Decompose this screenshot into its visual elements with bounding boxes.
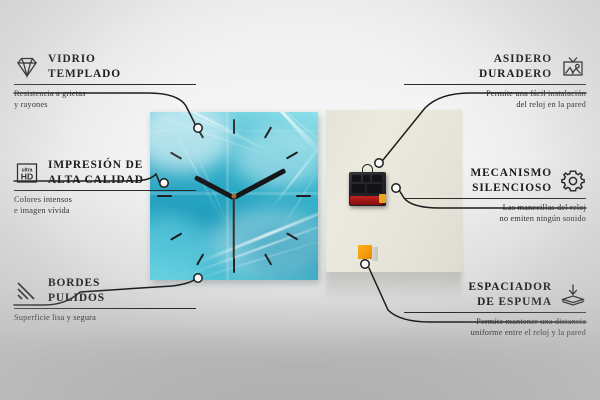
hour-mark — [233, 258, 235, 273]
feature-silent-mechanism: MECANISMOSILENCIOSO Las manecillas del r… — [404, 166, 586, 224]
movement-detail — [352, 175, 361, 182]
hour-mark — [296, 195, 311, 197]
feature-description: Colores intensose imagen vívida — [14, 195, 196, 216]
diamond-icon — [14, 54, 40, 80]
hand-center-pin — [232, 194, 237, 199]
second-hand — [233, 196, 235, 258]
divider — [14, 308, 196, 309]
foam-spacer-icon — [560, 282, 586, 308]
feature-durable-hanger: ASIDERODURADERO Permite una fácil instal… — [404, 52, 586, 110]
feature-title: IMPRESIÓN DEALTA CALIDAD — [48, 158, 144, 187]
movement-detail — [367, 184, 382, 193]
feature-header: ESPACIADORDE ESPUMA — [404, 280, 586, 309]
feature-title: ESPACIADORDE ESPUMA — [469, 280, 552, 309]
svg-text:HD: HD — [21, 171, 33, 181]
picture-hanger-icon — [560, 54, 586, 80]
feature-title: ASIDERODURADERO — [479, 52, 552, 81]
feature-foam-spacer: ESPACIADORDE ESPUMA Permite mantener una… — [404, 280, 586, 338]
feature-polished-edges: BORDESPULIDOS Superficie lisa y segura — [14, 276, 196, 324]
feature-tempered-glass: VIDRIOTEMPLADO Resistencia a grietasy ra… — [14, 52, 196, 110]
feature-description: Las manecillas del relojno emiten ningún… — [404, 203, 586, 224]
gear-icon — [560, 168, 586, 194]
feature-description: Permite una fácil instalacióndel reloj e… — [404, 89, 586, 110]
infographic-canvas: VIDRIOTEMPLADO Resistencia a grietasy ra… — [0, 0, 600, 400]
feature-description: Permite mantener una distanciauniforme e… — [404, 317, 586, 338]
foam-spacer — [358, 245, 372, 259]
feature-high-quality-print: ultra HD IMPRESIÓN DEALTA CALIDAD Colore… — [14, 158, 196, 216]
ultra-hd-icon: ultra HD — [14, 160, 40, 186]
hour-mark — [233, 119, 235, 134]
foam-spacer-side — [372, 247, 378, 261]
movement-detail — [352, 184, 365, 193]
feature-description: Resistencia a grietasy rayones — [14, 89, 196, 110]
divider — [404, 312, 586, 313]
feature-title: VIDRIOTEMPLADO — [48, 52, 121, 81]
movement-detail — [372, 175, 382, 182]
feature-title: MECANISMOSILENCIOSO — [470, 166, 552, 195]
divider — [14, 190, 196, 191]
movement-detail — [363, 175, 370, 182]
feature-title: BORDESPULIDOS — [48, 276, 105, 305]
polished-edges-icon — [14, 278, 40, 304]
battery-terminal — [379, 194, 386, 203]
feature-header: VIDRIOTEMPLADO — [14, 52, 196, 81]
feature-header: BORDESPULIDOS — [14, 276, 196, 305]
divider — [14, 84, 196, 85]
divider — [404, 198, 586, 199]
feature-header: ultra HD IMPRESIÓN DEALTA CALIDAD — [14, 158, 196, 187]
feature-header: MECANISMOSILENCIOSO — [404, 166, 586, 195]
feature-description: Superficie lisa y segura — [14, 313, 196, 324]
divider — [404, 84, 586, 85]
feature-header: ASIDERODURADERO — [404, 52, 586, 81]
